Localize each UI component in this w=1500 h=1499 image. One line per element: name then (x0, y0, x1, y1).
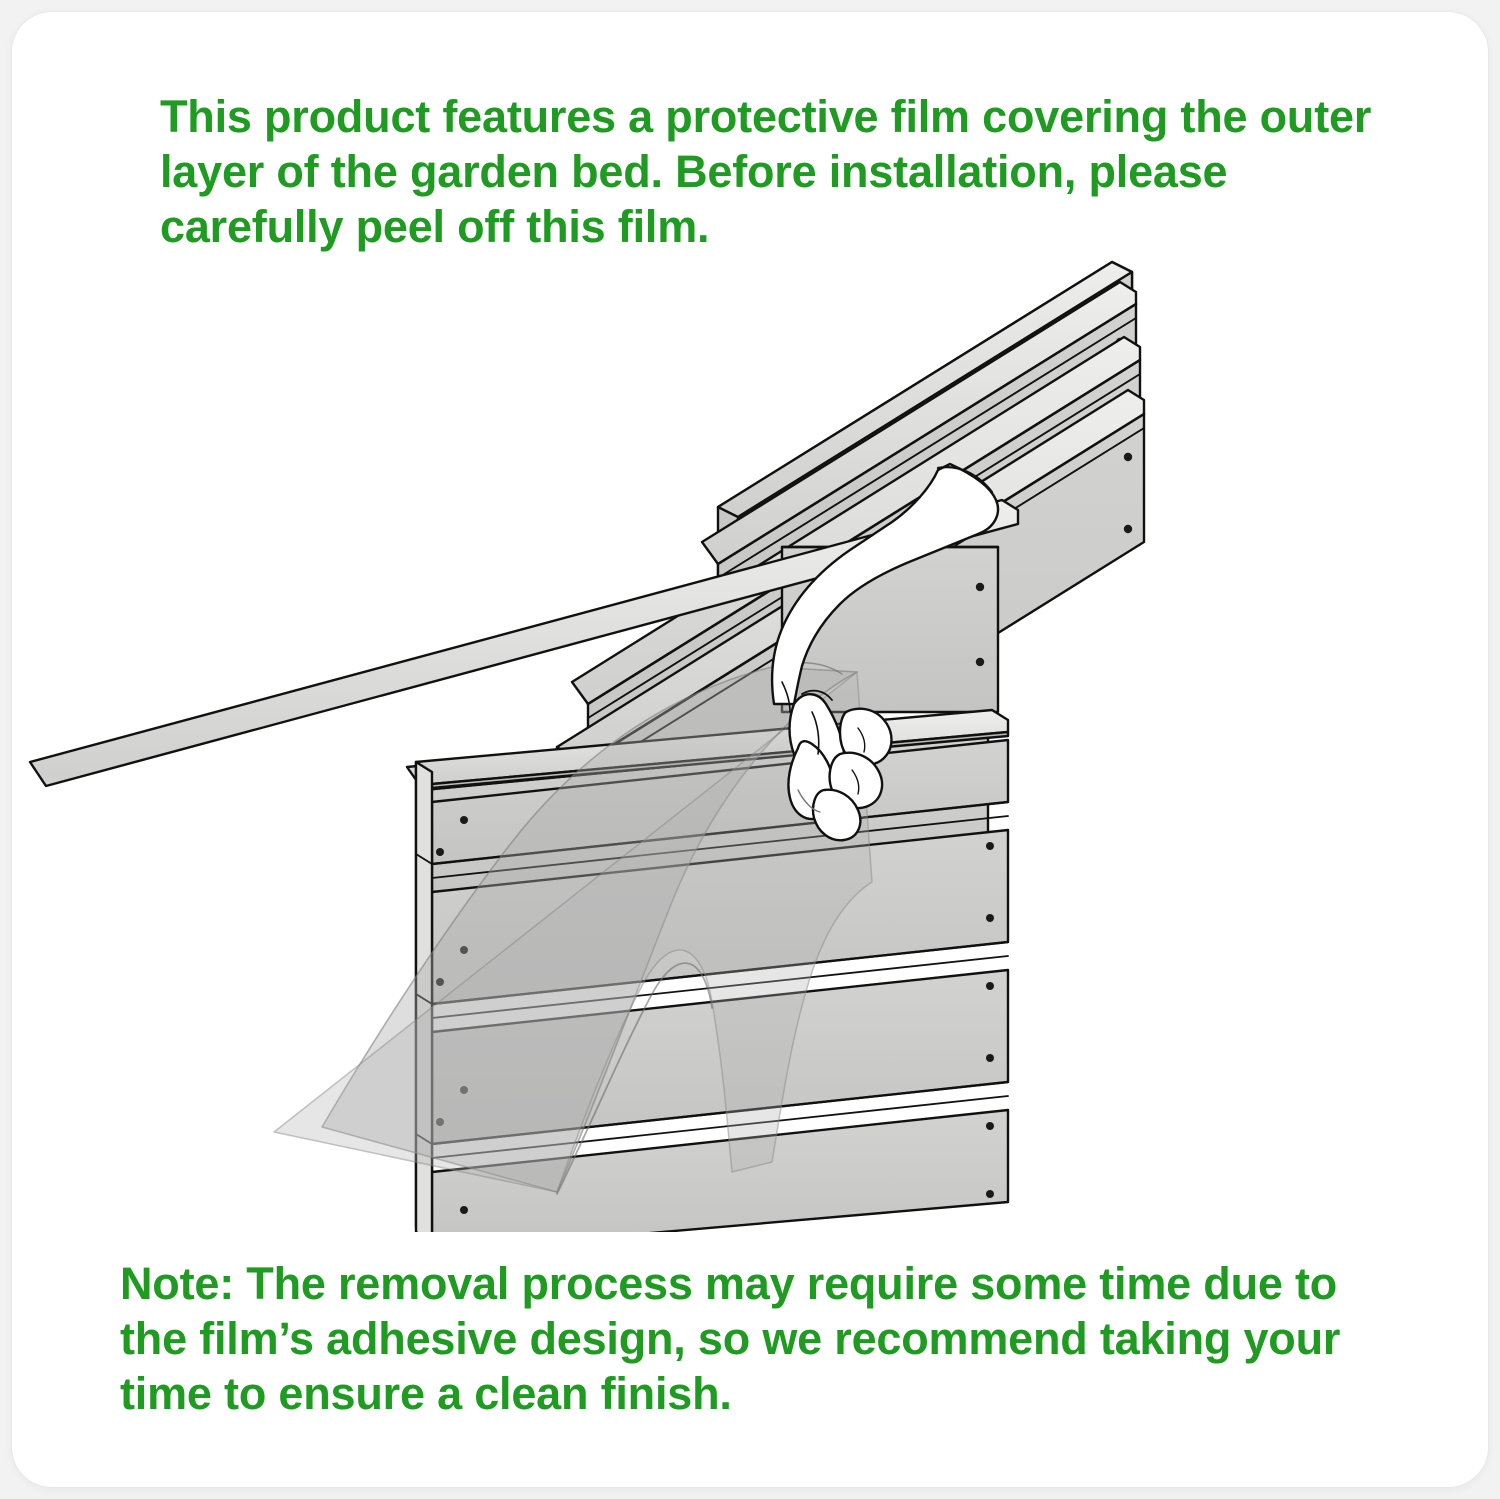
top-instruction-text: This product features a protective film … (160, 90, 1375, 255)
product-illustration (12, 242, 1488, 1232)
instruction-card: This product features a protective film … (12, 12, 1488, 1487)
bottom-note-text: Note: The removal process may require so… (120, 1257, 1410, 1422)
illustration-svg (12, 242, 1488, 1232)
page-root: This product features a protective film … (0, 0, 1500, 1499)
